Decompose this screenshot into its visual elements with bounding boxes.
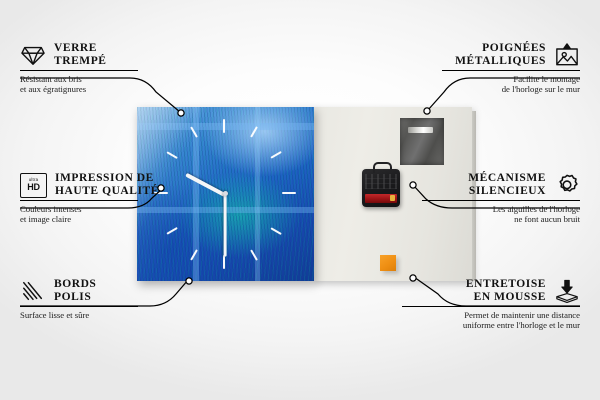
gear-icon [554,173,580,197]
hanging-loop [373,162,392,173]
foam-spacer [380,255,396,271]
hour-tick [270,151,282,159]
callout-header: VERRE TREMPÉ [20,42,160,68]
callout-mecanisme-silencieux: MÉCANISME SILENCIEUX Les aiguilles de l'… [420,172,580,225]
hour-tick [282,192,296,194]
callout-title: BORDS POLIS [54,278,96,304]
polished-edge-icon [20,279,46,303]
picture-hanger-icon [554,43,580,67]
battery [365,194,397,203]
callout-desc-1: Les aiguilles de l'horloge [420,204,580,214]
callout-poignees-metalliques: POIGNÉES MÉTALLIQUES Facilite le montage… [440,42,580,95]
mechanism-texture [365,174,397,189]
hanger-plate [400,118,444,165]
hour-tick [166,151,178,159]
callout-rule [442,70,580,71]
callout-desc-1: Facilite le montage [440,74,580,84]
callout-desc-2: uniforme entre l'horloge et le mur [400,320,580,330]
hanger-slot [408,127,433,133]
ultra-hd-icon: ultra HD [20,173,47,198]
callout-rule [20,306,138,307]
infographic-canvas: VERRE TREMPÉ Résistant aux bris et aux é… [0,0,600,400]
clock-mechanism [362,169,400,207]
callout-header: POIGNÉES MÉTALLIQUES [440,42,580,68]
hour-tick [270,227,282,235]
hour-tick [166,227,178,235]
callout-title: IMPRESSION DE HAUTE QUALITÉ [55,172,159,198]
callout-desc-1: Surface lisse et sûre [20,310,160,320]
callout-desc-1: Permet de maintenir une distance [400,310,580,320]
callout-rule [20,70,138,71]
callout-impression-haute-qualite: ultra HD IMPRESSION DE HAUTE QUALITÉ Cou… [20,172,180,225]
callout-header: MÉCANISME SILENCIEUX [420,172,580,198]
callout-title: MÉCANISME SILENCIEUX [468,172,546,198]
callout-rule [402,306,580,307]
hour-tick [223,255,225,269]
diamond-icon [20,43,46,67]
ultra-hd-large-text: HD [27,183,40,192]
callout-header: ENTRETOISE EN MOUSSE [400,278,580,304]
callout-bords-polis: BORDS POLIS Surface lisse et sûre [20,278,160,320]
callout-desc-2: et image claire [20,214,180,224]
callout-verre-trempe: VERRE TREMPÉ Résistant aux bris et aux é… [20,42,160,95]
callout-title: VERRE TREMPÉ [54,42,107,68]
artwork-band [137,123,314,130]
callout-desc-1: Résistant aux bris [20,74,160,84]
callout-rule [422,200,580,201]
foam-spacer-icon [554,279,580,303]
callout-desc-2: de l'horloge sur le mur [440,84,580,94]
callout-desc-2: ne font aucun bruit [420,214,580,224]
minute-hand [223,195,226,257]
callout-title: POIGNÉES MÉTALLIQUES [455,42,546,68]
callout-rule [20,200,138,201]
artwork-band [255,107,260,281]
hour-hand [185,172,226,196]
callout-header: BORDS POLIS [20,278,160,304]
callout-desc-2: et aux égratignures [20,84,160,94]
callout-desc-1: Couleurs intenses [20,204,180,214]
callout-title: ENTRETOISE EN MOUSSE [466,278,546,304]
callout-entretoise-en-mousse: ENTRETOISE EN MOUSSE Permet de maintenir… [400,278,580,331]
clock-hub [223,191,228,196]
callout-header: ultra HD IMPRESSION DE HAUTE QUALITÉ [20,172,180,198]
